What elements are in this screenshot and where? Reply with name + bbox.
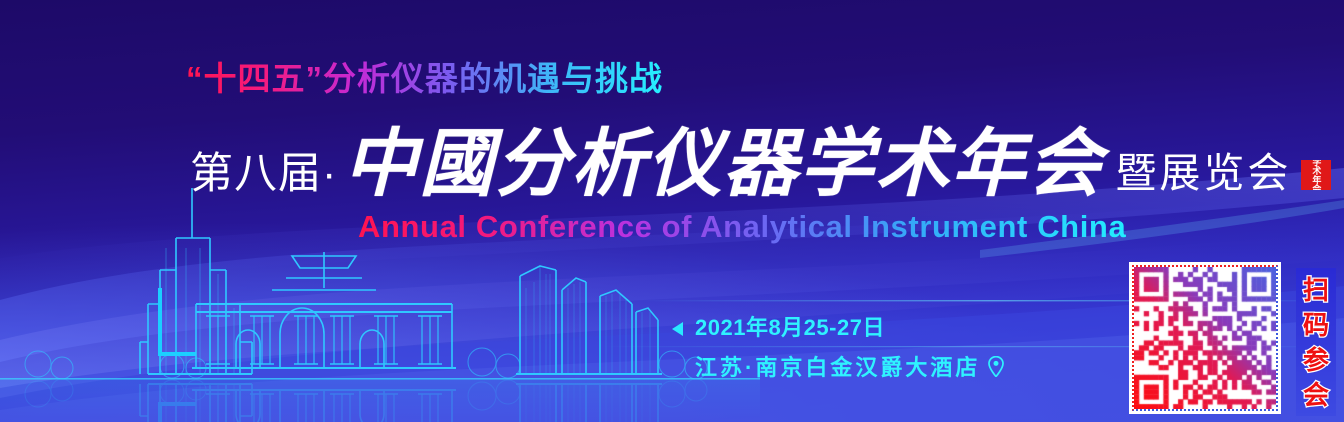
scan-char-0: 扫: [1303, 277, 1329, 303]
left-triangle-marker-icon: [672, 322, 683, 336]
scan-char-3: 会: [1303, 382, 1329, 408]
event-venue-label: 江苏·南京白金汉爵大酒店: [695, 350, 980, 382]
scan-char-1: 码: [1303, 312, 1329, 338]
banner-subtitle-english: Annual Conference of Analytical Instrume…: [358, 209, 1126, 245]
conference-banner: “十四五”分析仪器的机遇与挑战 第八届· 中國分析仪器学术年会 暨展览会 学术年…: [0, 0, 1344, 422]
event-date: 2021年8月25-27日: [695, 310, 1004, 342]
qr-code-canvas[interactable]: [1134, 267, 1276, 409]
event-venue: 江苏·南京白金汉爵大酒店: [695, 350, 1004, 382]
scan-to-join-label[interactable]: 扫 码 参 会: [1296, 268, 1336, 416]
title-prefix: 第八届·: [190, 153, 337, 202]
red-seal-stamp-icon: 学术年会: [1301, 160, 1331, 190]
banner-title: 第八届· 中國分析仪器学术年会 暨展览会 学术年会: [190, 128, 1331, 202]
event-info-lines: 2021年8月25-27日 江苏·南京白金汉爵大酒店: [695, 310, 1004, 382]
title-suffix: 暨展览会: [1115, 153, 1291, 202]
banner-tagline: “十四五”分析仪器的机遇与挑战: [186, 52, 663, 100]
qr-code[interactable]: [1129, 262, 1281, 414]
title-main-calligraphy: 中國分析仪器学术年会: [343, 128, 1103, 202]
location-pin-icon: [988, 356, 1004, 377]
event-info: 2021年8月25-27日 江苏·南京白金汉爵大酒店: [672, 310, 1004, 382]
scan-char-2: 参: [1303, 347, 1329, 373]
